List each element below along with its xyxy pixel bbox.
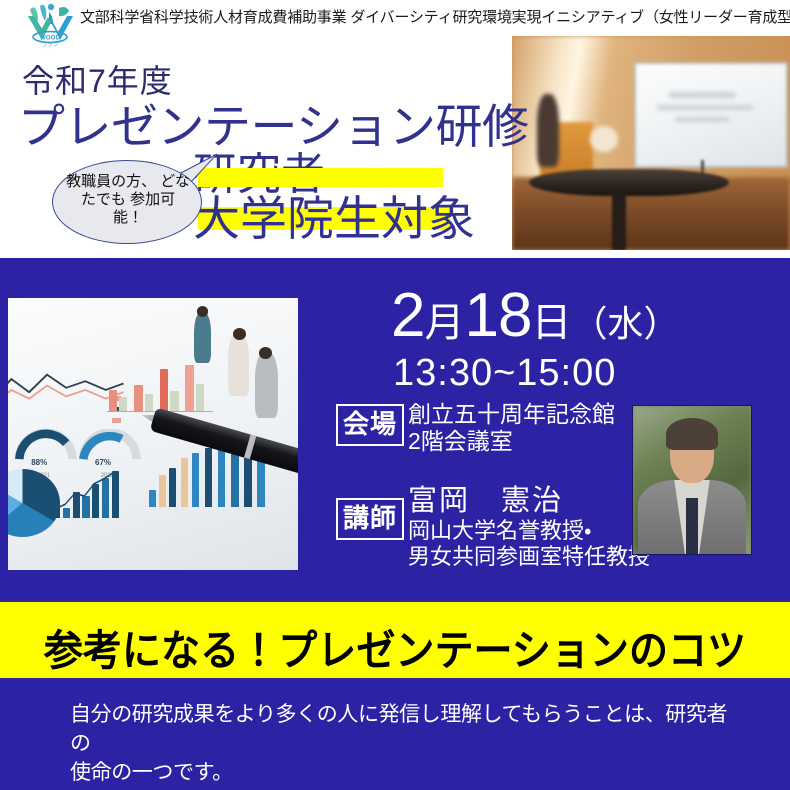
poster-canvas: WOOD プラン 文部科学省科学技術人材育成費補助事業 ダイバーシティ研究環境実… [0, 0, 790, 790]
projector-screen [634, 62, 788, 169]
event-month-number: 2 [391, 281, 424, 350]
small-bar-group [52, 469, 133, 518]
lecturer-label: 講師 [336, 498, 404, 540]
speech-bubble-text: 教職員の方、 どなたでも 参加可能！ [66, 173, 190, 227]
venue-value: 創立五十周年記念館 2階会議室 [408, 401, 615, 455]
gauge-67 [78, 429, 142, 462]
lecturer-name: 富岡 憲治 [408, 484, 563, 518]
round-table [529, 169, 729, 197]
conference-person [537, 94, 559, 167]
event-time: 13:30~15:00 [393, 352, 616, 395]
event-day-of-week: （水） [571, 303, 679, 344]
event-date: 2月18日（水） [391, 280, 679, 351]
gauge-88 [14, 429, 78, 462]
speech-bubble: 教職員の方、 どなたでも 参加可能！ [52, 152, 222, 244]
figurine-man-1 [228, 333, 248, 396]
event-day-unit: 日 [531, 301, 571, 345]
event-day-number: 18 [464, 281, 531, 350]
figurine-woman [194, 312, 211, 364]
figurine-man-2 [255, 352, 278, 417]
portrait-tie [686, 498, 698, 554]
program-subsidy-text: 文部科学省科学技術人材育成費補助事業 ダイバーシティ研究環境実現イニシアティブ（… [80, 9, 786, 27]
event-month-unit: 月 [424, 301, 464, 345]
description-text: 自分の研究成果をより多くの人に発信し理解してもらうことは、研究者の 使命の一つで… [70, 700, 730, 790]
wood-plan-logo: WOOD プラン [20, 2, 82, 48]
svg-text:プラン: プラン [42, 42, 58, 49]
portrait-hair [666, 418, 718, 451]
conference-room-photo [512, 36, 790, 250]
banner-headline: 参考になる！プレゼンテーションのコツ [28, 617, 763, 678]
top-bar-group [107, 363, 223, 412]
venue-label: 会場 [336, 404, 404, 446]
lecturer-portrait-photo [632, 405, 752, 555]
conference-flower [590, 126, 618, 152]
lecturer-title: 岡山大学名誉教授・ 男女共同参画室特任教授 [408, 518, 650, 570]
wood-plan-logo-svg: WOOD プラン [20, 2, 82, 48]
audience-line-2: 大学院生対象 [193, 180, 475, 249]
svg-text:WOOD: WOOD [40, 35, 60, 42]
table-leg [612, 192, 626, 250]
business-charts-photo: 88% 2021 67% 2022 [8, 298, 298, 570]
